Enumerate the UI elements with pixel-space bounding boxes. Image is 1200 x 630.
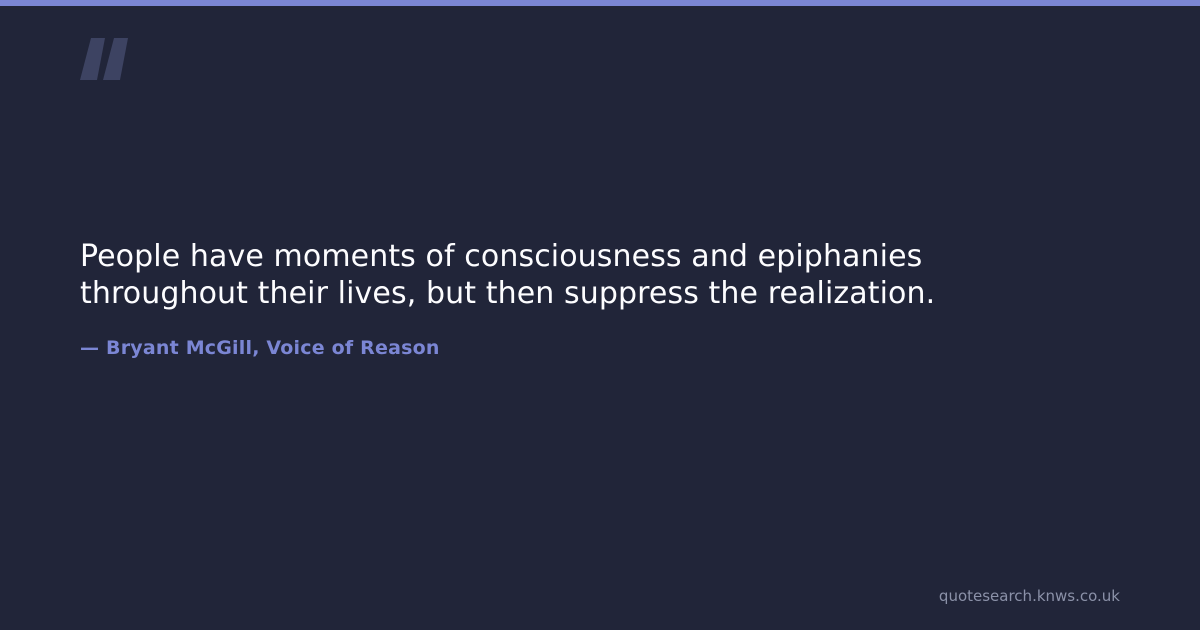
top-accent-bar	[0, 0, 1200, 6]
site-watermark: quotesearch.knws.co.uk	[939, 586, 1120, 606]
quote-text: People have moments of consciousness and…	[80, 238, 1010, 312]
double-left-quotation-mark-icon	[80, 38, 132, 80]
quote-attribution: — Bryant McGill, Voice of Reason	[80, 336, 1120, 360]
quote-content: People have moments of consciousness and…	[80, 238, 1120, 360]
quote-card: People have moments of consciousness and…	[0, 0, 1200, 630]
